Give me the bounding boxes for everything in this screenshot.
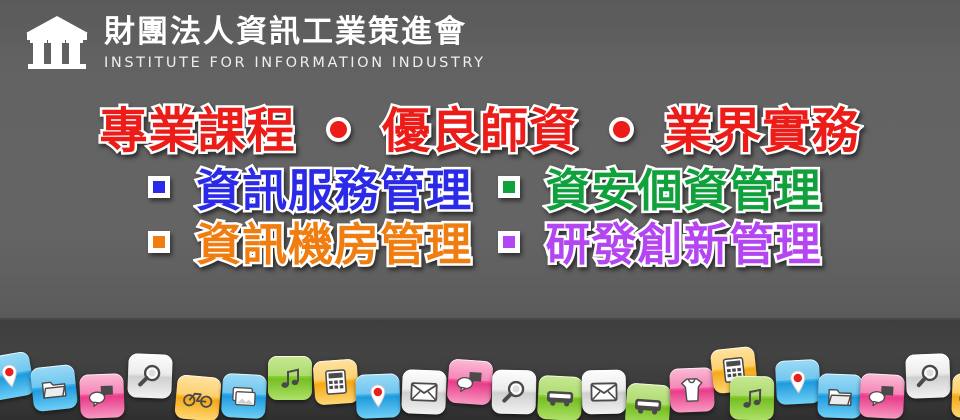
logo-wordmark: 財團法人資訊工業策進會 INSTITUTE FOR INFORMATION IN… [104,14,486,71]
organization-logo: 財團法人資訊工業策進會 INSTITUTE FOR INFORMATION IN… [26,14,486,71]
org-name-en: INSTITUTE FOR INFORMATION INDUSTRY [104,55,486,71]
decorative-icon-strip [0,318,960,420]
headline-segment: 優良師資 [382,107,578,155]
logo-architrave [27,33,87,40]
bicycle-icon [951,373,960,419]
magnifier-icon [905,353,951,399]
envelope-icon [401,369,447,415]
bullet-dot-icon [609,117,634,142]
bullet-dot-icon [326,117,351,142]
headline-row-3: 資訊機房管理 研發創新管理 [0,219,960,268]
calculator-icon [313,359,360,406]
headline-row-2: 資訊服務管理 資安個資管理 [0,164,960,213]
org-name-cn: 財團法人資訊工業策進會 [104,15,486,51]
envelope-icon [582,370,627,415]
headline-row-1: 專業課程 優良師資 業界實務 [0,104,960,155]
institute-building-logo-icon [26,16,88,68]
photo-stack-icon [221,373,267,419]
chat-bubbles-icon [447,359,494,406]
logo-column [51,42,62,64]
headline-segment: 專業課程 [100,107,296,155]
bus-icon [537,375,583,420]
shirt-icon [669,367,715,413]
magnifier-icon [492,370,537,415]
chat-bubbles-icon [859,373,905,419]
folder-icon [30,364,78,412]
headline-segment: 研發創新管理 [546,222,822,267]
headline-segment: 資訊機房管理 [196,222,472,267]
promotional-banner: 財團法人資訊工業策進會 INSTITUTE FOR INFORMATION IN… [0,0,960,420]
chat-bubbles-icon [79,373,125,419]
folder-icon [817,373,863,419]
logo-column [33,42,44,64]
headline-segment: 資訊服務管理 [196,168,472,213]
logo-column [69,42,80,64]
bus-icon [625,383,672,420]
headline-segment: 資安個資管理 [546,168,822,213]
music-note-icon [730,376,775,420]
music-note-icon [268,356,312,400]
logo-pediment [26,16,88,33]
bullet-square-icon [148,176,170,198]
bicycle-icon [174,374,222,420]
headline-segment: 業界實務 [664,107,860,155]
bullet-square-icon [498,231,520,253]
logo-base [28,64,86,69]
bullet-square-icon [498,176,520,198]
location-pin-icon [775,359,821,405]
magnifier-icon [127,353,173,399]
bullet-square-icon [148,231,170,253]
location-pin-icon [355,373,401,419]
headline-block: 專業課程 優良師資 業界實務 資訊服務管理 資安個資管理 資訊機房管理 研發創新… [0,104,960,273]
